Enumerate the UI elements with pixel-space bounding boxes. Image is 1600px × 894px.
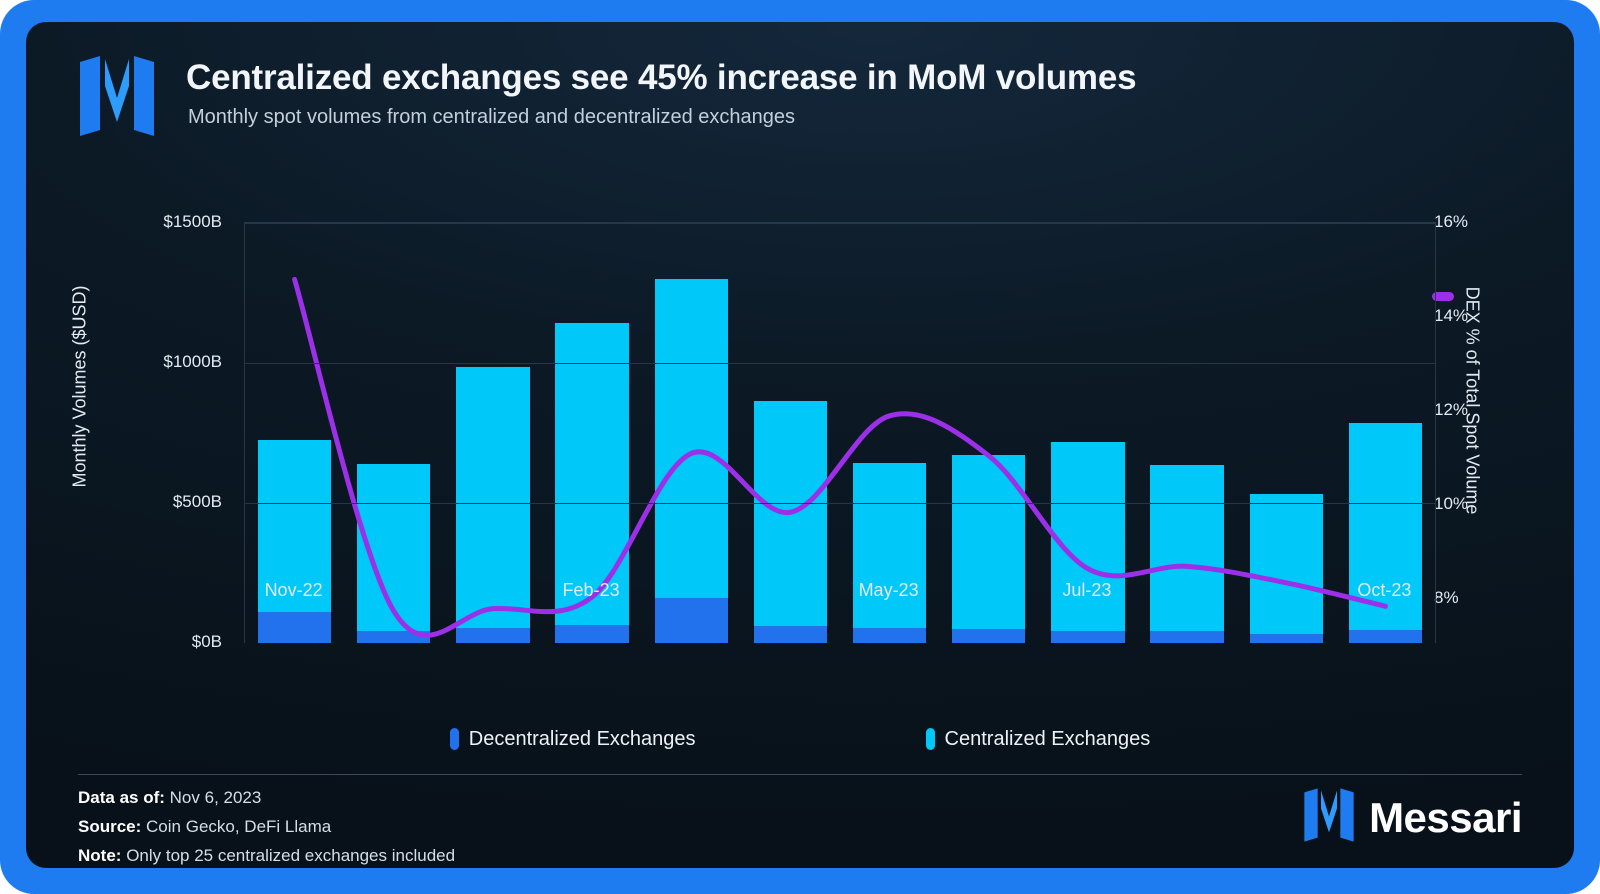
y-axis-right-tick: 10% xyxy=(1434,494,1504,514)
legend-item-cex[interactable]: Centralized Exchanges xyxy=(926,728,1151,751)
y-axis-left-label: Monthly Volumes ($USD) xyxy=(70,257,91,517)
x-axis-tick: May-23 xyxy=(859,580,919,601)
legend-label-cex: Centralized Exchanges xyxy=(945,728,1151,751)
y-axis-right-tick: 8% xyxy=(1434,588,1504,608)
footnote-note: Note: Only top 25 centralized exchanges … xyxy=(78,846,455,866)
footnotes: Data as of: Nov 6, 2023 Source: Coin Gec… xyxy=(78,788,455,868)
footnote-value: Only top 25 centralized exchanges includ… xyxy=(126,846,455,865)
y-axis-right-tick: 14% xyxy=(1434,306,1504,326)
brand-lockup: Messari xyxy=(1303,788,1522,847)
footnote-label: Note: xyxy=(78,846,121,865)
dex-percent-line xyxy=(245,223,1435,643)
x-axis-tick: Feb-23 xyxy=(563,580,620,601)
x-axis-tick: Nov-22 xyxy=(265,580,323,601)
chart-legend: Decentralized Exchanges Centralized Exch… xyxy=(26,722,1574,756)
y-axis-left: Monthly Volumes ($USD) $0B$500B$1000B$15… xyxy=(26,140,222,700)
y-axis-left-tick: $0B xyxy=(102,632,222,652)
footnote-value: Nov 6, 2023 xyxy=(170,788,262,807)
y-axis-right-tick: 12% xyxy=(1434,400,1504,420)
footnote-data-as-of: Data as of: Nov 6, 2023 xyxy=(78,788,455,808)
x-axis-tick: Jul-23 xyxy=(1062,580,1111,601)
footnote-value: Coin Gecko, DeFi Llama xyxy=(146,817,331,836)
page-subtitle: Monthly spot volumes from centralized an… xyxy=(188,106,795,129)
chart-card: Centralized exchanges see 45% increase i… xyxy=(26,22,1574,868)
footnote-label: Data as of: xyxy=(78,788,165,807)
y-axis-left-tick: $500B xyxy=(102,492,222,512)
gridline xyxy=(245,223,1435,224)
chart-frame: Centralized exchanges see 45% increase i… xyxy=(0,0,1600,894)
gridline xyxy=(245,503,1435,504)
chart-area: Monthly Volumes ($USD) $0B$500B$1000B$15… xyxy=(26,140,1574,700)
footer-divider xyxy=(78,774,1522,775)
x-axis-tick: Oct-23 xyxy=(1357,580,1411,601)
footnote-label: Source: xyxy=(78,817,141,836)
y-axis-left-tick: $1000B xyxy=(102,352,222,372)
y-axis-right-tick: 16% xyxy=(1434,212,1504,232)
messari-logo-icon xyxy=(78,56,156,136)
page-title: Centralized exchanges see 45% increase i… xyxy=(186,58,1136,98)
footnote-source: Source: Coin Gecko, DeFi Llama xyxy=(78,817,455,837)
legend-label-dex: Decentralized Exchanges xyxy=(469,728,696,751)
messari-logo-icon xyxy=(1303,788,1355,847)
header: Centralized exchanges see 45% increase i… xyxy=(78,42,1544,142)
y-axis-right: DEX % of Total Spot Volume 8%10%12%14%16… xyxy=(1434,140,1514,700)
plot-area xyxy=(244,222,1436,643)
gridline xyxy=(245,363,1435,364)
brand-name: Messari xyxy=(1369,794,1522,842)
legend-item-dex[interactable]: Decentralized Exchanges xyxy=(450,728,696,751)
legend-swatch-cex xyxy=(926,728,935,750)
legend-swatch-dex xyxy=(450,728,459,750)
y-axis-left-tick: $1500B xyxy=(102,212,222,232)
